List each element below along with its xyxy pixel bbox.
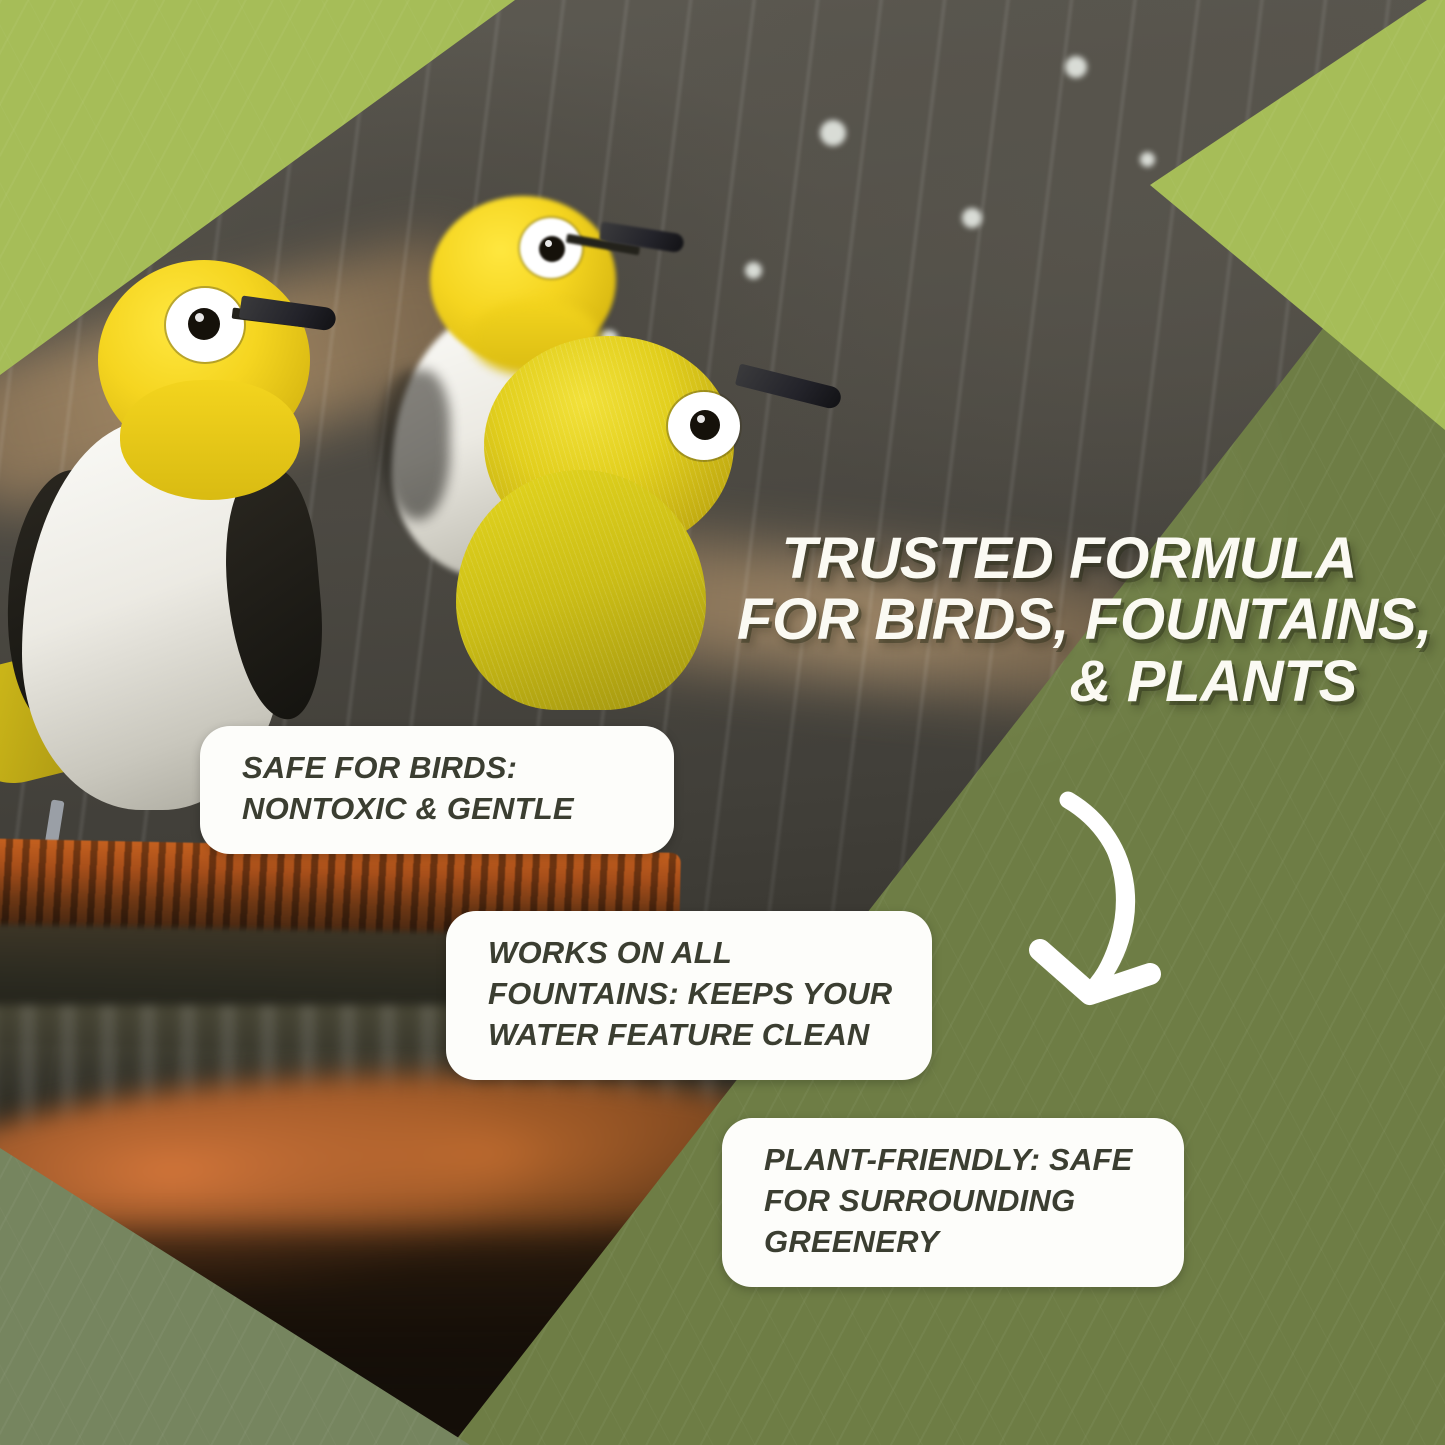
rain-droplet bbox=[1065, 56, 1087, 78]
callout-line: WORKS ON ALL bbox=[488, 933, 898, 974]
curved-down-arrow-icon bbox=[1018, 778, 1248, 1038]
callout-line: PLANT-FRIENDLY: SAFE bbox=[764, 1140, 1150, 1181]
headline-line-1: TRUSTED FORMULA bbox=[737, 528, 1357, 589]
callout-safe-for-birds: SAFE FOR BIRDS: NONTOXIC & GENTLE bbox=[200, 726, 674, 854]
callout-plant-friendly: PLANT-FRIENDLY: SAFE FOR SURROUNDING GRE… bbox=[722, 1118, 1184, 1287]
product-infographic: TRUSTED FORMULA FOR BIRDS, FOUNTAINS, & … bbox=[0, 0, 1445, 1445]
callout-line: SAFE FOR BIRDS: bbox=[242, 748, 640, 789]
rain-droplet bbox=[745, 262, 762, 279]
headline-line-3: & PLANTS bbox=[737, 651, 1357, 712]
headline-line-2: FOR BIRDS, FOUNTAINS, bbox=[737, 589, 1357, 650]
callout-line: NONTOXIC & GENTLE bbox=[242, 789, 640, 830]
rain-droplet bbox=[820, 120, 846, 146]
page-title: TRUSTED FORMULA FOR BIRDS, FOUNTAINS, & … bbox=[737, 528, 1357, 712]
callout-line: WATER FEATURE CLEAN bbox=[488, 1015, 898, 1056]
callout-line: FOUNTAINS: KEEPS YOUR bbox=[488, 974, 898, 1015]
callout-line: GREENERY bbox=[764, 1222, 1150, 1263]
callout-line: FOR SURROUNDING bbox=[764, 1181, 1150, 1222]
rain-droplet bbox=[962, 208, 982, 228]
callout-works-on-all-fountains: WORKS ON ALL FOUNTAINS: KEEPS YOUR WATER… bbox=[446, 911, 932, 1080]
rain-droplet bbox=[1140, 152, 1155, 167]
